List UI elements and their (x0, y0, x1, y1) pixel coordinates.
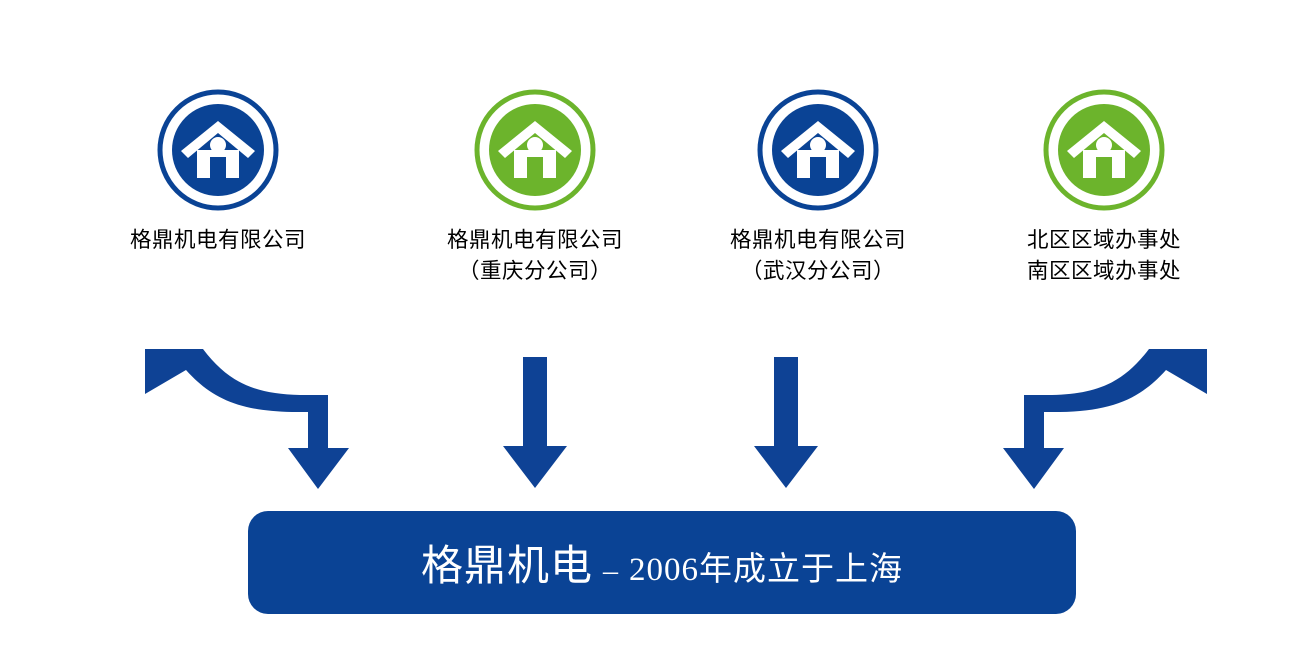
org-node-2[interactable]: 格鼎机电有限公司 （武汉分公司） (668, 88, 968, 286)
org-node-3[interactable]: 北区区域办事处 南区区域办事处 (968, 88, 1240, 286)
straight-down-arrow (503, 357, 567, 488)
banner-text: 格鼎机电–2006年成立于上海 (421, 532, 903, 593)
curved-right-down-arrow (145, 349, 349, 489)
straight-down-arrow (754, 357, 818, 488)
banner-dash: – (593, 554, 629, 587)
banner-company-name: 格鼎机电 (421, 544, 593, 590)
org-node-0[interactable]: 格鼎机电有限公司 (68, 88, 368, 256)
house-circle-icon (668, 88, 968, 217)
org-node-label: 格鼎机电有限公司 （武汉分公司） (668, 225, 968, 286)
org-node-label: 格鼎机电有限公司 （重庆分公司） (385, 225, 685, 286)
curved-left-down-arrow (1003, 349, 1207, 489)
org-node-label: 北区区域办事处 南区区域办事处 (968, 225, 1240, 286)
house-circle-icon (385, 88, 685, 217)
banner-tagline: 2006年成立于上海 (629, 552, 903, 588)
house-circle-icon (968, 88, 1240, 217)
org-node-label: 格鼎机电有限公司 (68, 225, 368, 256)
org-node-1[interactable]: 格鼎机电有限公司 （重庆分公司） (385, 88, 685, 286)
house-circle-icon (68, 88, 368, 217)
company-banner[interactable]: 格鼎机电–2006年成立于上海 (248, 511, 1076, 614)
diagram-canvas: 格鼎机电有限公司 格鼎机电有限公司 （重庆分公司） (0, 0, 1296, 651)
